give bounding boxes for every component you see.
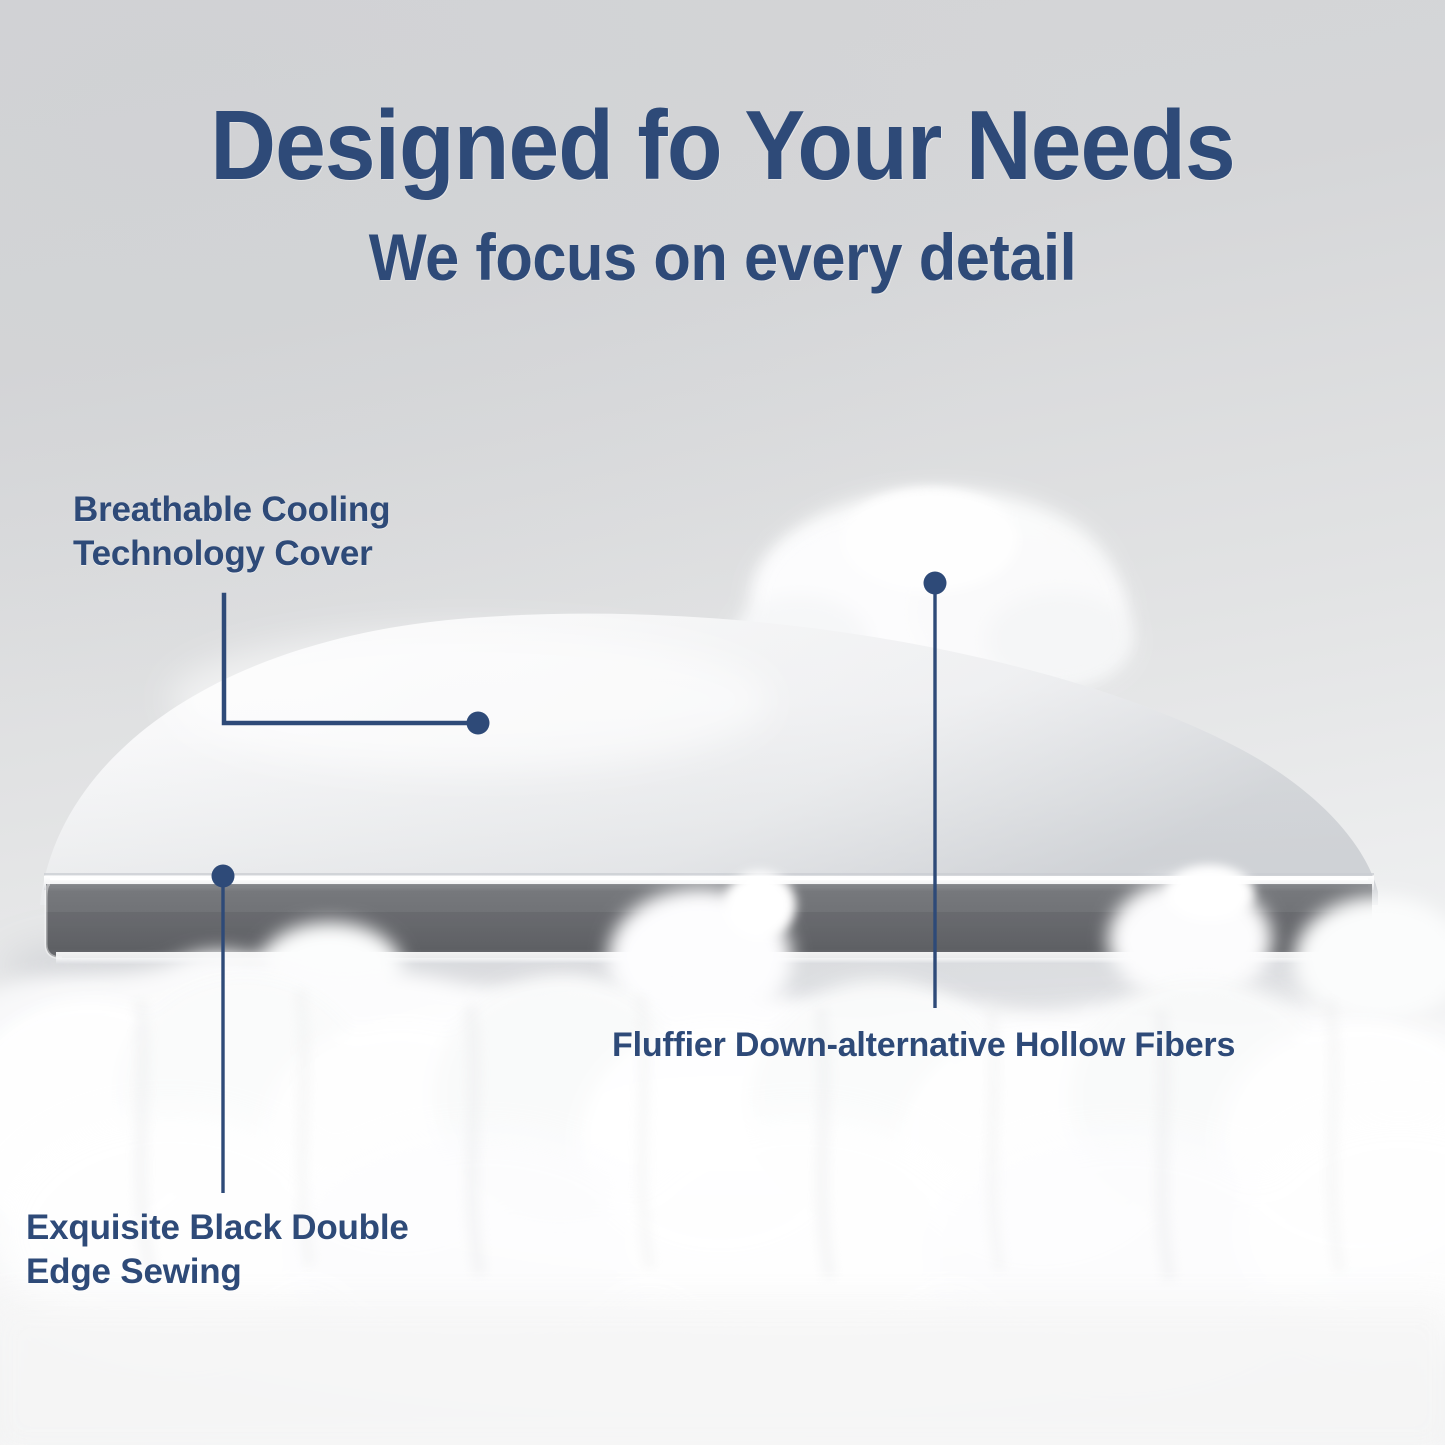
fiber-fill-mass — [0, 865, 1445, 1445]
callout-label-cover: Breathable Cooling Technology Cover — [73, 488, 390, 577]
callout-label-fibers: Fluffier Down-alternative Hollow Fibers — [612, 1024, 1235, 1067]
infographic-canvas: Designed fo Your Needs We focus on every… — [0, 0, 1445, 1445]
heading-block: Designed fo Your Needs We focus on every… — [0, 96, 1445, 290]
page-subtitle: We focus on every detail — [51, 224, 1395, 290]
page-title: Designed fo Your Needs — [51, 96, 1395, 194]
callout-label-sewing: Exquisite Black Double Edge Sewing — [26, 1206, 409, 1295]
